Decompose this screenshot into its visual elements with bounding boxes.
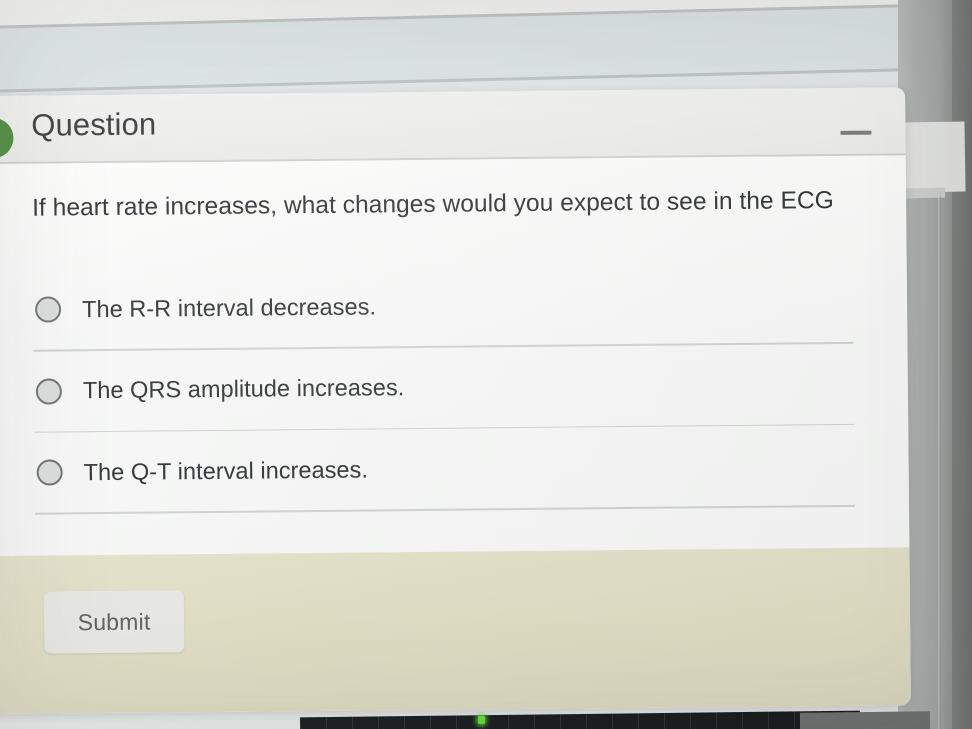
dialog-footer: Submit: [0, 547, 911, 714]
radio-button-icon[interactable]: [35, 296, 61, 322]
answer-option-1[interactable]: The R-R interval decreases.: [33, 276, 863, 336]
dialog-body: If heart rate increases, what changes wo…: [0, 155, 909, 556]
answer-option-label: The R-R interval decreases.: [82, 293, 376, 323]
option-divider: [35, 505, 855, 514]
submit-button[interactable]: Submit: [44, 590, 185, 653]
radio-button-icon[interactable]: [36, 378, 62, 404]
screenshot-stage: Question If heart rate increases, what c…: [0, 0, 972, 729]
background-panel-light: [902, 122, 965, 193]
answer-option-label: The QRS amplitude increases.: [83, 374, 405, 404]
radio-button-icon[interactable]: [37, 460, 63, 486]
background-panel-right-edge: [952, 0, 972, 729]
option-divider: [34, 423, 854, 432]
green-status-dot-icon: [0, 118, 14, 158]
option-divider: [33, 342, 853, 351]
question-text: If heart rate increases, what changes wo…: [32, 184, 844, 226]
status-led-indicator: [478, 716, 485, 724]
minimize-icon: [840, 131, 871, 135]
question-dialog: Question If heart rate increases, what c…: [0, 87, 911, 714]
answer-option-2[interactable]: The QRS amplitude increases.: [34, 357, 864, 417]
answer-option-3[interactable]: The Q-T interval increases.: [34, 439, 864, 499]
background-vertical-seam: [938, 196, 941, 729]
answer-options-list: The R-R interval decreases. The QRS ampl…: [33, 276, 865, 529]
dialog-header: Question: [0, 87, 906, 164]
device-bezel-strip: [800, 711, 930, 729]
page-title: Question: [31, 107, 156, 144]
minimize-button[interactable]: [833, 122, 877, 144]
answer-option-label: The Q-T interval increases.: [84, 456, 369, 486]
